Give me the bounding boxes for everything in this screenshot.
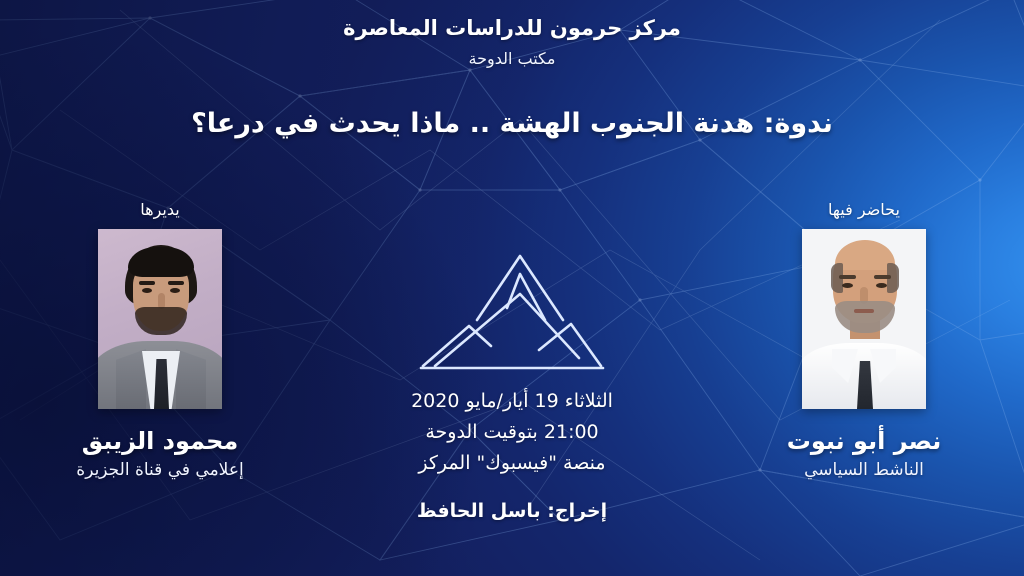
organization-name: مركز حرمون للدراسات المعاصرة [0,14,1024,42]
presenter-mouth [854,309,874,313]
event-platform: منصة "فيسبوك" المركز [347,448,677,479]
presenter-photo [802,229,926,409]
presenter-beard [835,301,895,333]
presenter-eye-left [842,283,853,288]
moderator-eyebrow-right [168,281,184,285]
moderator-job-title: إعلامي في قناة الجزيرة [0,460,320,480]
event-time: 21:00 بتوقيت الدوحة [347,417,677,448]
event-date: الثلاثاء 19 أيار/مايو 2020 [347,386,677,417]
presenter-eye-right [876,283,887,288]
moderator-eyebrow-left [139,281,155,285]
event-details: الثلاثاء 19 أيار/مايو 2020 21:00 بتوقيت … [347,386,677,478]
presenter-role-label: يحاضر فيها [704,200,1024,219]
organization-header: مركز حرمون للدراسات المعاصرة مكتب الدوحة [0,14,1024,70]
presenter-bald-crown [835,240,895,270]
moderator-eye-left [142,288,152,293]
moderator-name: محمود الزيبق [0,427,320,455]
mountain-range-logo-icon [419,246,605,378]
center-column: الثلاثاء 19 أيار/مايو 2020 21:00 بتوقيت … [347,246,677,522]
moderator-photo [98,229,222,409]
speaker-card-presenter: يحاضر فيها نصر أبو نبوت الناشط السياسي [704,200,1024,480]
presenter-job-title: الناشط السياسي [704,460,1024,480]
presenter-name: نصر أبو نبوت [704,427,1024,455]
moderator-beard [135,307,187,335]
director-credit: إخراج: باسل الحافظ [347,500,677,522]
moderator-eye-right [170,288,180,293]
speaker-card-moderator: يديرها محمود الزيبق إعلامي في قناة الجزي… [0,200,320,480]
webinar-poster: مركز حرمون للدراسات المعاصرة مكتب الدوحة… [0,0,1024,576]
seminar-title: ندوة: هدنة الجنوب الهشة .. ماذا يحدث في … [0,108,1024,139]
moderator-fringe [128,247,194,277]
moderator-role-label: يديرها [0,200,320,219]
moderator-necktie [154,359,169,409]
organization-office: مكتب الدوحة [0,48,1024,69]
presenter-eyebrow-right [874,275,891,279]
presenter-eyebrow-left [839,275,856,279]
